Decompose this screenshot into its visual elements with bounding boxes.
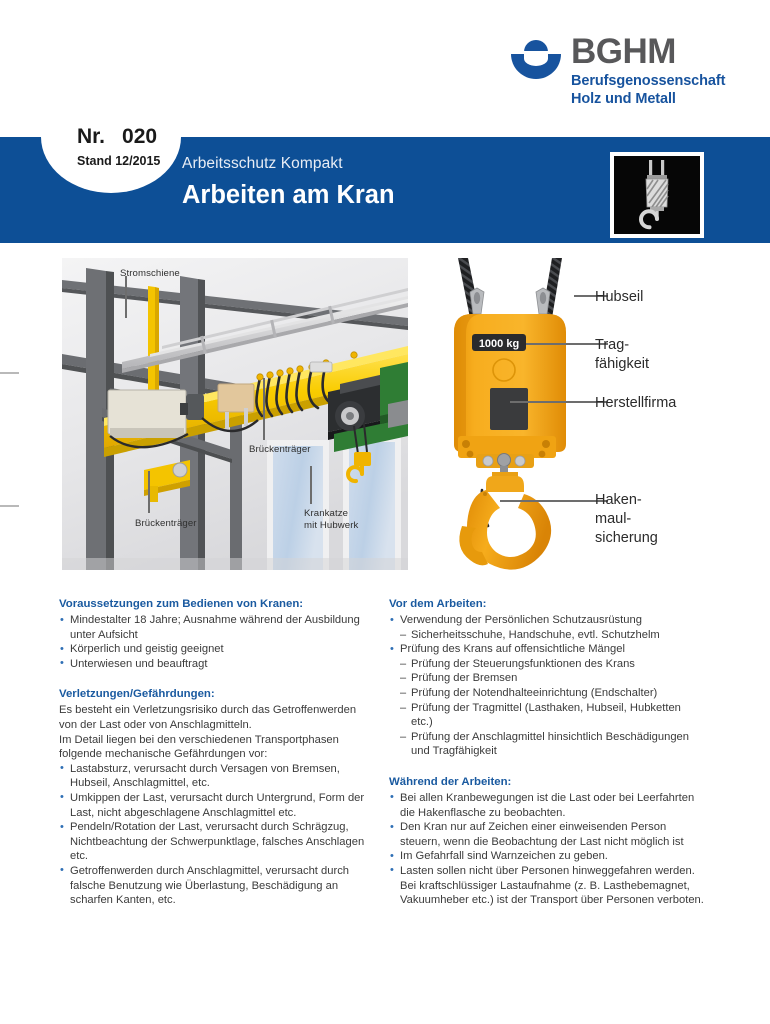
label-herstellfirma: Herstellfirma: [595, 394, 676, 413]
list-item: Lastabsturz, verursacht durch Versagen v…: [59, 762, 374, 791]
label-tragfaehigkeit: Trag- fähigkeit: [595, 336, 649, 374]
label-hakenmaulsicherung: Haken- maul- sicherung: [595, 491, 658, 548]
section-paragraph: Im Detail liegen bei den verschiedenen T…: [59, 733, 374, 762]
banner-kicker: Arbeitsschutz Kompakt: [182, 155, 343, 173]
list-item: Bei allen Kranbewegungen ist die Last od…: [389, 791, 704, 820]
list-item: Körperlich und geistig geeignet: [59, 642, 374, 657]
section-paragraph: Es besteht ein Verletzungsrisiko durch d…: [59, 703, 374, 732]
section-heading: Verletzungen/Gefährdungen:: [59, 687, 374, 702]
issue-number-value: 020: [122, 125, 157, 148]
sub-list-item: Prüfung der Bremsen: [400, 671, 704, 686]
list-item: Lasten sollen nicht über Personen hinweg…: [389, 864, 704, 908]
logo-name: BGHM: [571, 34, 725, 70]
list-item: Verwendung der Persönlichen Schutzausrüs…: [389, 613, 704, 642]
logo-subtitle: Berufsgenossenschaft Holz und Metall: [571, 73, 725, 108]
list-item: Umkippen der Last, verursacht durch Unte…: [59, 791, 374, 820]
list-item: Getroffenwerden durch Anschlagmittel, ve…: [59, 864, 374, 908]
list-item-text: Verwendung der Persönlichen Schutzausrüs…: [400, 614, 642, 626]
label-stromschiene: Stromschiene: [120, 268, 180, 280]
bullet-list: Lastabsturz, verursacht durch Versagen v…: [59, 762, 374, 908]
logo-subtitle-line1: Berufsgenossenschaft: [571, 73, 725, 91]
bghm-sun-icon: [511, 40, 561, 84]
leader-line-krankatze: [310, 466, 312, 504]
leader-line-herstellfirma: [510, 401, 608, 403]
page-margin-tick-bottom: [0, 505, 19, 507]
label-brueckentraeger-lower: Brückenträger: [135, 518, 197, 530]
content-column-left: Voraussetzungen zum Bedienen von Kranen:…: [59, 597, 374, 908]
sub-list-item: Sicherheitsschuhe, Handschuhe, evtl. Sch…: [400, 628, 704, 643]
leader-line-hakenmaulsicherung: [500, 500, 608, 502]
list-item-text: Prüfung des Krans auf offensichtliche Mä…: [400, 643, 625, 655]
crane-hook-photo-icon: [614, 156, 700, 234]
logo-wordmark: BGHM Berufsgenossenschaft Holz und Metal…: [571, 34, 725, 108]
load-capacity-plate-text: 1000 kg: [479, 338, 519, 350]
sub-list-item: Prüfung der Steuerungsfunktionen des Kra…: [400, 657, 704, 672]
bghm-logo: BGHM Berufsgenossenschaft Holz und Metal…: [511, 34, 721, 112]
content-column-right: Vor dem Arbeiten: Verwendung der Persönl…: [389, 597, 704, 908]
section-heading: Während der Arbeiten:: [389, 775, 704, 790]
issue-number: Nr.020: [77, 125, 157, 149]
bullet-list: Mindestalter 18 Jahre; Ausnahme während …: [59, 613, 374, 671]
section-heading: Vor dem Arbeiten:: [389, 597, 704, 612]
list-item: Prüfung des Krans auf offensichtliche Mä…: [389, 642, 704, 759]
list-item: Im Gefahrfall sind Warnzeichen zu geben.: [389, 849, 704, 864]
hook-block-svg: 1000 kg: [440, 258, 740, 570]
sub-list-item: Prüfung der Anschlagmittel hinsichtlich …: [400, 730, 704, 759]
label-hubseil: Hubseil: [595, 288, 643, 307]
section-waehrend-der-arbeiten: Während der Arbeiten: Bei allen Kranbewe…: [389, 775, 704, 908]
logo-subtitle-line2: Holz und Metall: [571, 91, 725, 109]
label-krankatze-mit-hubwerk: Krankatze mit Hubwerk: [304, 508, 358, 532]
leader-line-stromschiene: [125, 276, 127, 318]
bullet-list: Bei allen Kranbewegungen ist die Last od…: [389, 791, 704, 908]
list-item: Den Kran nur auf Zeichen einer einweisen…: [389, 820, 704, 849]
list-item: Pendeln/Rotation der Last, verursacht du…: [59, 820, 374, 864]
hook-block-illustration: 1000 kg: [440, 258, 740, 570]
sub-list-item: Prüfung der Tragmittel (Lasthaken, Hubse…: [400, 701, 704, 730]
list-item: Unterwiesen und beauftragt: [59, 657, 374, 672]
issue-date: Stand 12/2015: [77, 154, 160, 168]
page-margin-tick-top: [0, 372, 19, 374]
sub-list-item: Prüfung der Notendhalteeinrichtung (Ends…: [400, 686, 704, 701]
section-voraussetzungen: Voraussetzungen zum Bedienen von Kranen:…: [59, 597, 374, 671]
label-brueckentraeger-upper: Brückenträger: [249, 444, 311, 456]
sub-list: Prüfung der Steuerungsfunktionen des Kra…: [400, 657, 704, 759]
section-vor-dem-arbeiten: Vor dem Arbeiten: Verwendung der Persönl…: [389, 597, 704, 759]
section-verletzungen: Verletzungen/Gefährdungen: Es besteht ei…: [59, 687, 374, 907]
section-heading: Voraussetzungen zum Bedienen von Kranen:: [59, 597, 374, 612]
sub-list: Sicherheitsschuhe, Handschuhe, evtl. Sch…: [400, 628, 704, 643]
banner-thumbnail: [610, 152, 704, 238]
bullet-list: Verwendung der Persönlichen Schutzausrüs…: [389, 613, 704, 759]
issue-number-label: Nr.: [77, 125, 105, 148]
page-title: Arbeiten am Kran: [182, 181, 395, 210]
leader-line-brueckentraeger-2: [148, 471, 150, 513]
list-item: Mindestalter 18 Jahre; Ausnahme während …: [59, 613, 374, 642]
leader-line-brueckentraeger-1: [263, 378, 265, 440]
